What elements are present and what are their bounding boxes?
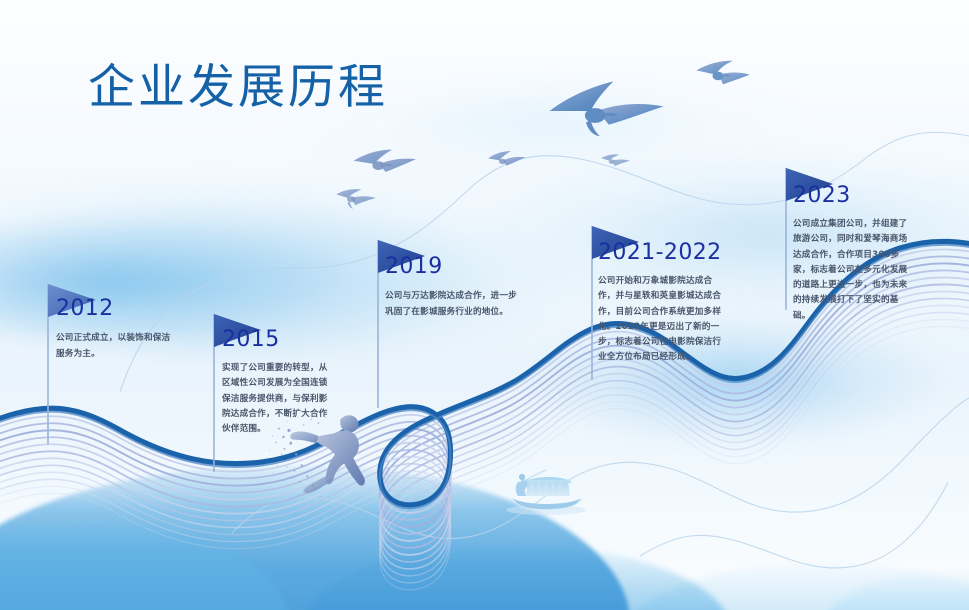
milestone-description: 公司正式成立，以装饰和保洁服务为主。 bbox=[56, 330, 174, 363]
milestone-year: 2023 bbox=[793, 183, 915, 208]
milestone-year: 2021-2022 bbox=[598, 240, 724, 265]
bird-icon-6 bbox=[601, 154, 630, 166]
milestone-description: 公司开始和万象城影院达成合作，并与星轶和英皇影城达成合作，目前公司合作系统更加多… bbox=[598, 274, 724, 366]
milestone-year: 2019 bbox=[385, 254, 521, 279]
milestone-year: 2015 bbox=[222, 327, 334, 352]
milestone-2015[interactable]: 2015 实现了公司重要的转型，从区域性公司发展为全国连锁保洁服务提供商，与保利… bbox=[222, 327, 334, 437]
poster-canvas: 企业发展历程 2012 公司正式成立，以装饰和保洁服务为主。 2015 实现了公… bbox=[0, 0, 969, 610]
milestone-2012[interactable]: 2012 公司正式成立，以装饰和保洁服务为主。 bbox=[56, 296, 174, 363]
milestone-year: 2012 bbox=[56, 296, 174, 321]
bird-icon-4 bbox=[336, 189, 376, 209]
bird-icon-2 bbox=[354, 150, 416, 172]
bird-icon-1 bbox=[550, 81, 664, 136]
bird-icon-5 bbox=[696, 61, 749, 85]
milestone-2023[interactable]: 2023 公司成立集团公司，并组建了旅游公司，同时和爱琴海商场达成合作，合作项目… bbox=[793, 183, 915, 324]
milestone-description: 实现了公司重要的转型，从区域性公司发展为全国连锁保洁服务提供商，与保利影院达成合… bbox=[222, 361, 334, 437]
milestone-2019[interactable]: 2019 公司与万达影院达成合作，进一步巩固了在影城服务行业的地位。 bbox=[385, 254, 521, 321]
milestone-2021-2022[interactable]: 2021-2022 公司开始和万象城影院达成合作，并与星轶和英皇影城达成合作，目… bbox=[598, 240, 724, 366]
milestone-description: 公司与万达影院达成合作，进一步巩固了在影城服务行业的地位。 bbox=[385, 288, 521, 321]
milestone-description: 公司成立集团公司，并组建了旅游公司，同时和爱琴海商场达成合作，合作项目300多家… bbox=[793, 217, 915, 324]
bird-icon-3 bbox=[488, 151, 525, 166]
page-title: 企业发展历程 bbox=[88, 61, 388, 116]
